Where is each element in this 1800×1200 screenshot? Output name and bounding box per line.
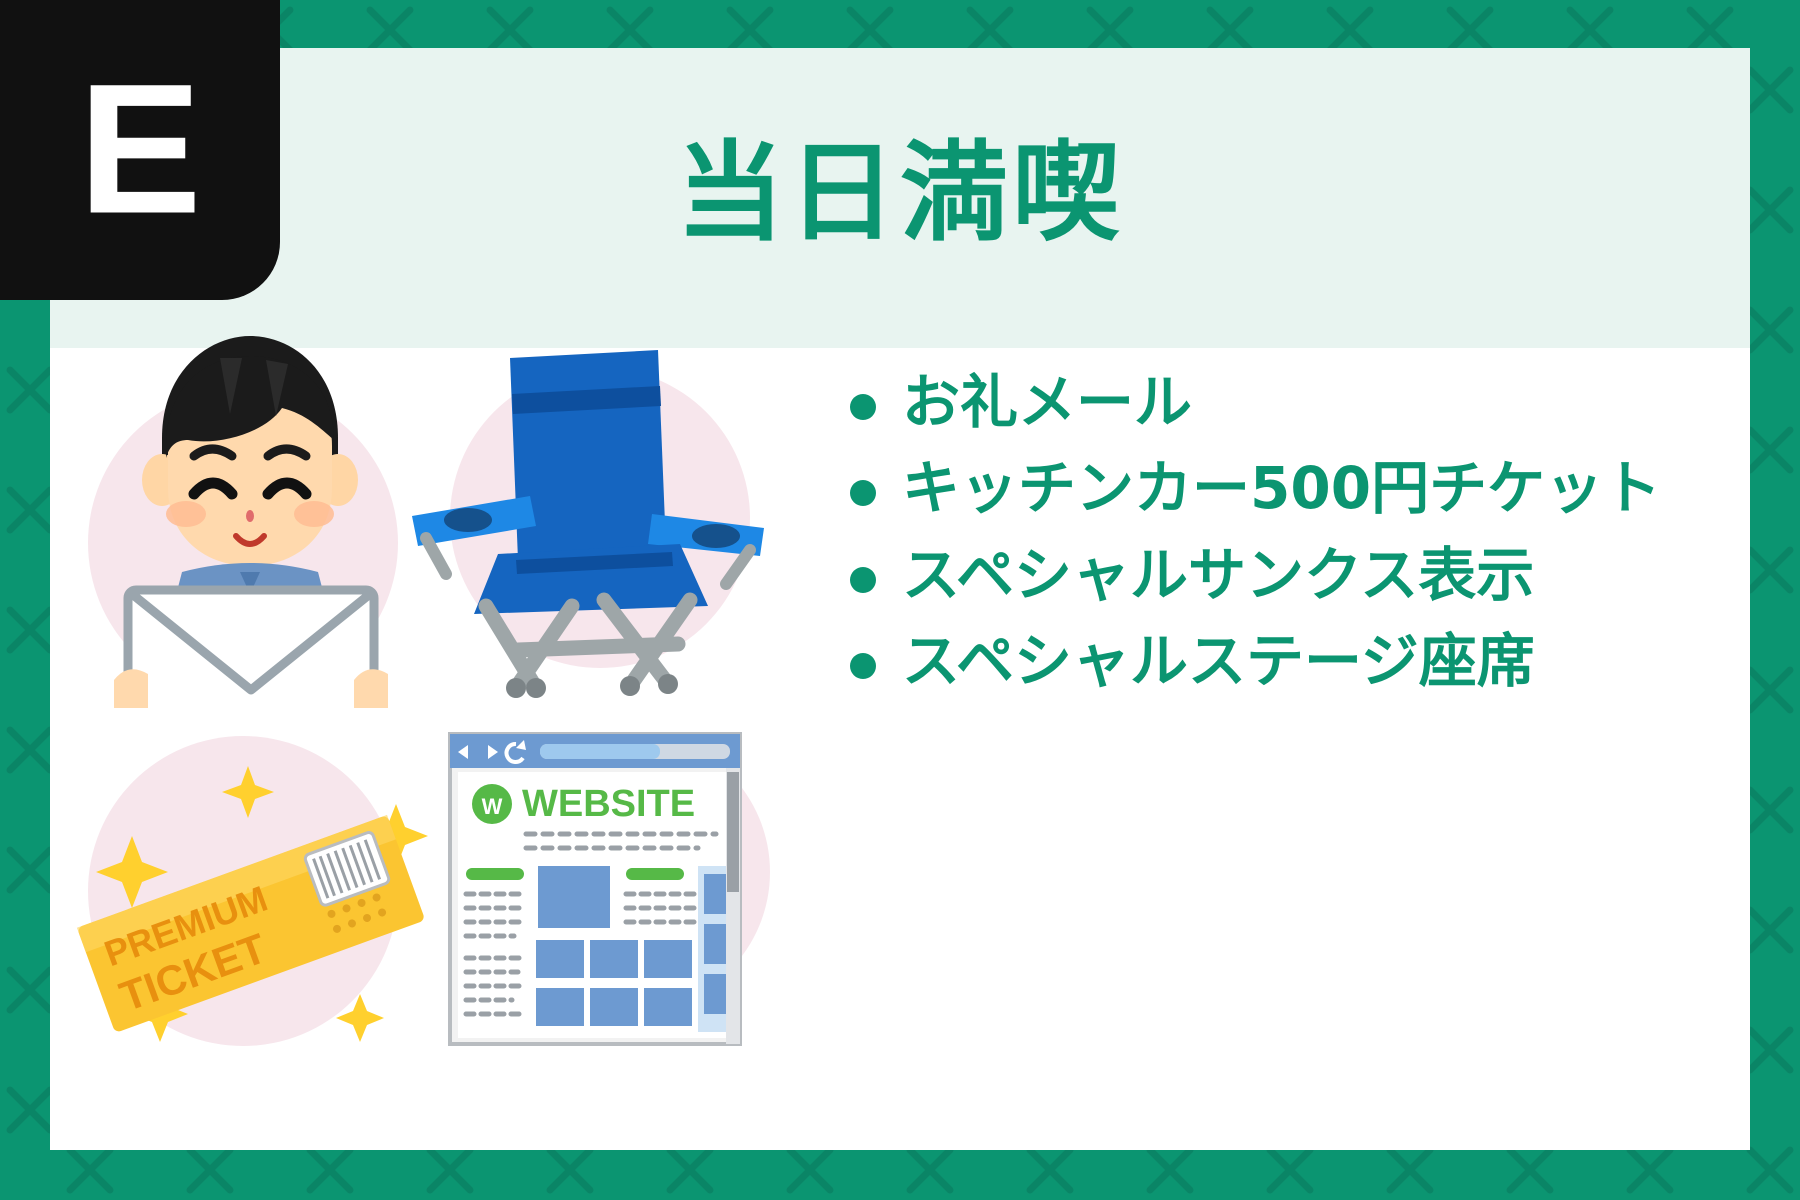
bullet-dot-icon [850,653,876,679]
website-illustration: W WEBSITE [430,708,770,1058]
benefit-label: お礼メール [902,368,1192,436]
benefit-label: キッチンカー500円チケット [902,454,1661,522]
content-card: 当日満喫 [50,48,1750,1150]
premium-ticket-illustration: PREMIUM TICKET [60,718,440,1058]
benefit-label: スペシャルステージ座席 [902,627,1535,695]
list-item: お礼メール [850,368,1730,436]
folding-chair-illustration [390,338,770,698]
benefit-label: スペシャルサンクス表示 [902,541,1534,609]
illustration-grid: PREMIUM TICKET [50,348,850,1148]
page-title: 当日満喫 [50,140,1750,248]
list-item: キッチンカー500円チケット [850,454,1730,522]
bullet-dot-icon [850,567,876,593]
list-item: スペシャルステージ座席 [850,627,1730,695]
list-item: スペシャルサンクス表示 [850,541,1730,609]
bullet-dot-icon [850,480,876,506]
website-title: WEBSITE [522,783,695,825]
tier-badge-letter: E [0,58,280,243]
website-logo-letter: W [482,794,503,819]
tier-badge: E [0,0,280,300]
bullet-dot-icon [850,394,876,420]
benefits-list: お礼メール キッチンカー500円チケット スペシャルサンクス表示 スペシャルステ… [850,368,1730,714]
man-holding-envelope-illustration [70,328,430,708]
